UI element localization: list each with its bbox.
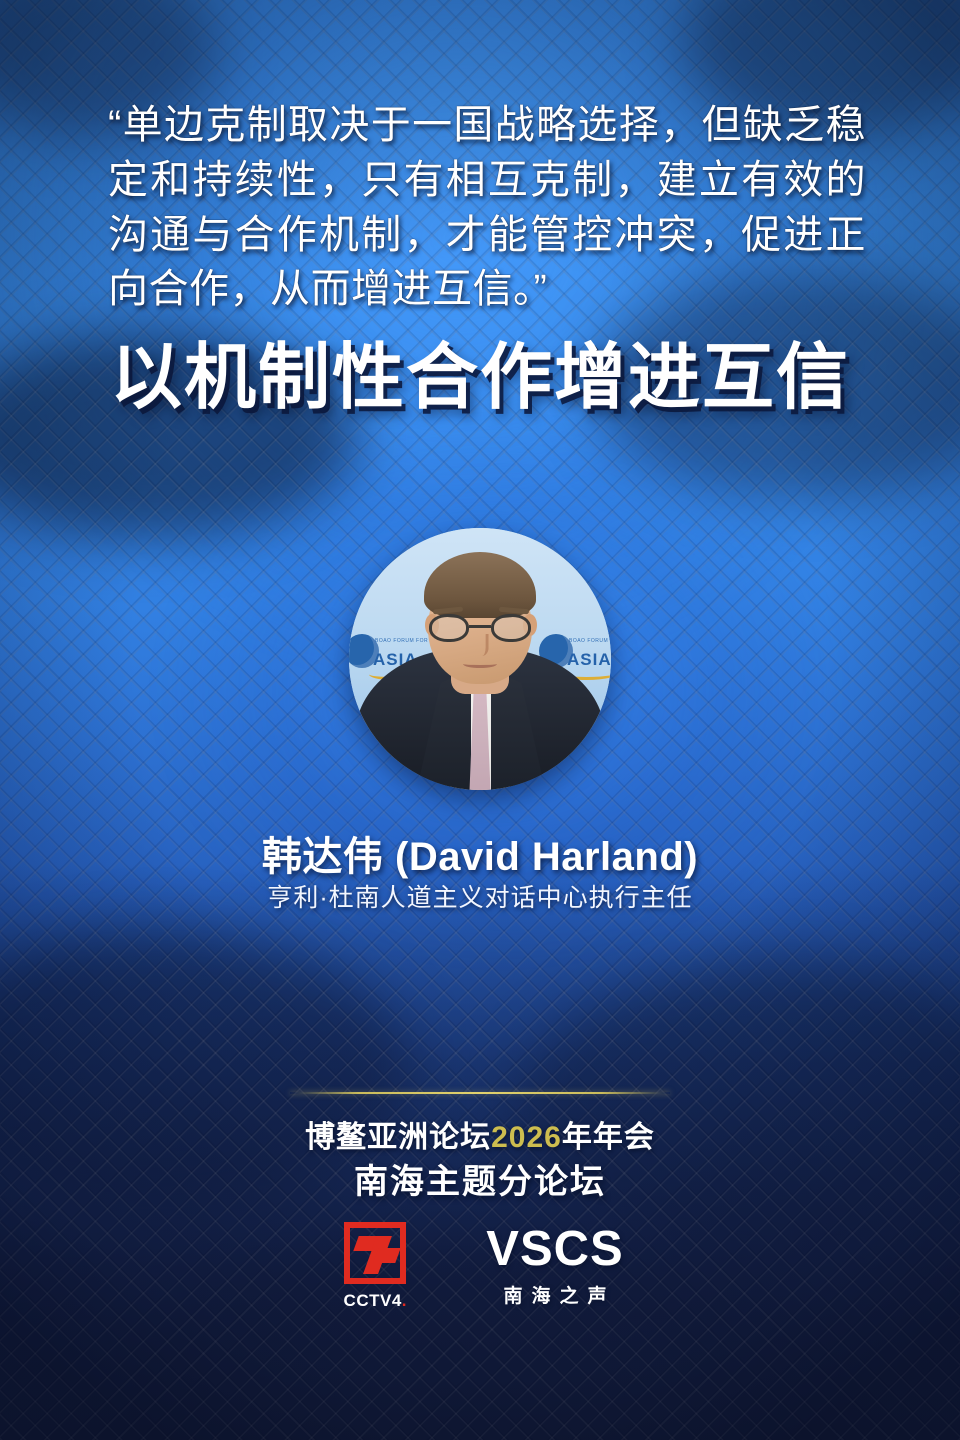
logo-row: CCTV4. VSCS 南海之声 [0, 1222, 960, 1311]
event-name-suffix: 年年会 [562, 1121, 655, 1154]
event-name-line-2: 南海主题分论坛 [0, 1154, 960, 1203]
glasses-bridge [469, 625, 491, 628]
event-year: 2026 [491, 1121, 562, 1154]
quote-text: “单边克制取决于一国战略选择，但缺乏稳定和持续性，只有相互克制，建立有效的沟通与… [108, 98, 866, 317]
boao-logo-small-text: BOAO FORUM FOR [375, 638, 428, 644]
vscs-logo-text: VSCS [486, 1225, 623, 1274]
gold-divider [290, 1092, 670, 1094]
speaker-title: 亨利·杜南人道主义对话中心执行主任 [0, 878, 960, 914]
event-name-line-1: 博鳌亚洲论坛2026年年会 [0, 1112, 960, 1156]
quote-poster: “单边克制取决于一国战略选择，但缺乏稳定和持续性，只有相互克制，建立有效的沟通与… [0, 0, 960, 1440]
vscs-logo-subtitle: 南海之声 [494, 1281, 615, 1308]
glasses-lens [429, 614, 469, 642]
event-name-prefix: 博鳌亚洲论坛 [305, 1121, 491, 1154]
speaker-portrait: BOAO FORUM FOR ASIA BOAO FORUM FOR ASIA [349, 528, 611, 790]
page-title: 以机制性合作增进互信 [0, 318, 960, 423]
cctv-logo-dot: . [402, 1291, 407, 1310]
portrait-nose [473, 634, 489, 656]
glasses-lens [491, 614, 531, 642]
cctv-logo-label: CCTV4. [344, 1291, 407, 1311]
portrait-mouth [463, 660, 497, 668]
cctv-mark-icon [344, 1222, 406, 1284]
cctv-logo-text: CCTV4 [344, 1291, 402, 1310]
cctv4-logo: CCTV4. [336, 1222, 414, 1311]
vscs-logo: VSCS 南海之声 [486, 1225, 623, 1308]
poster-content: “单边克制取决于一国战略选择，但缺乏稳定和持续性，只有相互克制，建立有效的沟通与… [0, 0, 960, 1440]
cctv-mark-bar [374, 1248, 401, 1263]
boao-logo-small-text: BOAO FORUM FOR [569, 638, 611, 644]
speaker-name: 韩达伟 (David Harland) [0, 824, 960, 882]
